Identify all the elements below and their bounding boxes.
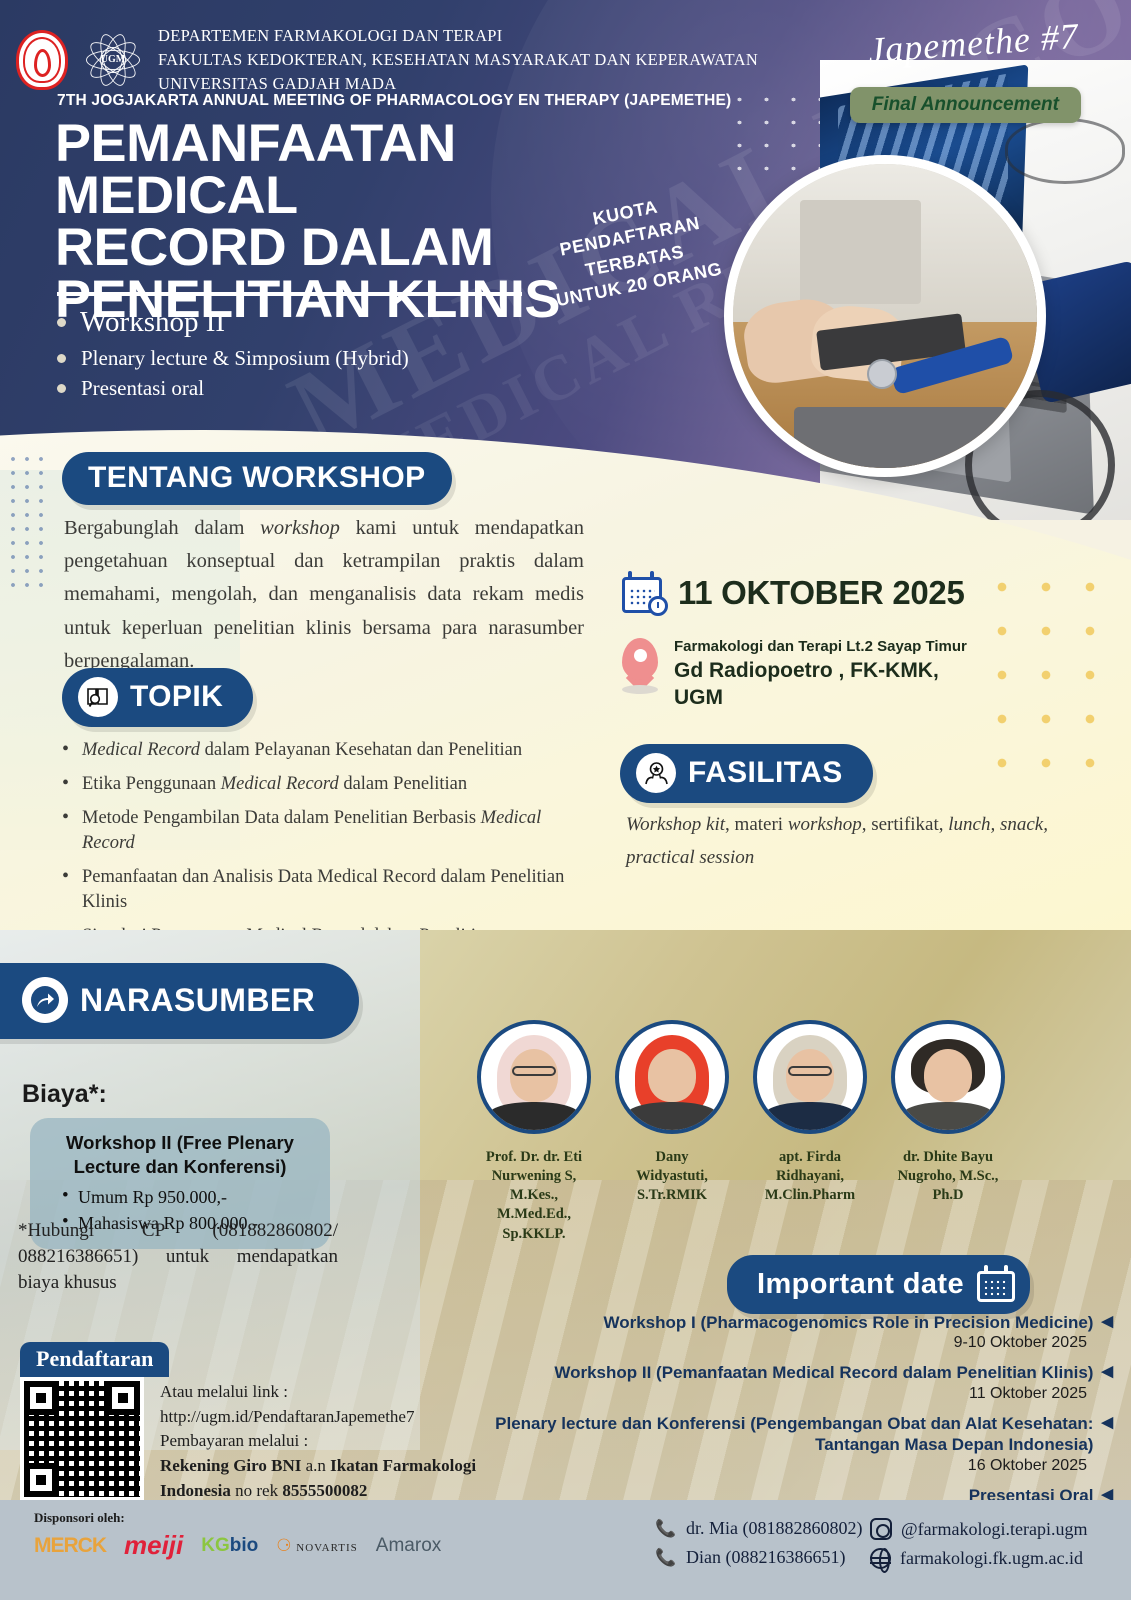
instagram-icon[interactable] bbox=[870, 1518, 892, 1540]
speaker-2-name-0: apt. Firda bbox=[746, 1148, 874, 1167]
calendar-icon bbox=[976, 1264, 1016, 1304]
medal-hands-icon bbox=[636, 753, 676, 793]
about-body-post: kami untuk mendapatkan pengetahuan konse… bbox=[64, 517, 584, 672]
topik-2-pre: Metode Pengambilan Data dalam Penelitian… bbox=[82, 808, 481, 828]
narasumber-heading-label: NARASUMBER bbox=[80, 982, 315, 1019]
avatar bbox=[615, 1020, 729, 1134]
list-item: Pemanfaatan dan Analisis Data Medical Re… bbox=[58, 865, 598, 915]
important-date-heading-pill: Important date bbox=[727, 1255, 1030, 1314]
novartis-label: NOVARTIS bbox=[296, 1542, 358, 1554]
kgbio-logo: KGbio bbox=[201, 1535, 258, 1557]
list-item: Prof. Dr. dr. Eti Nurwening S, M.Kes., M… bbox=[470, 1020, 598, 1244]
list-item: Workshop II (Pemanfaatan Medical Record … bbox=[413, 1362, 1113, 1402]
important-date-1-label: Workshop II (Pemanfaatan Medical Record … bbox=[554, 1362, 1093, 1383]
speaker-2-name-1: Ridhayani, bbox=[746, 1167, 874, 1186]
avatar bbox=[891, 1020, 1005, 1134]
payment-label: Pembayaran melalui : bbox=[160, 1429, 490, 1454]
topik-heading-label: TOPIK bbox=[130, 680, 223, 714]
phone-icon: 📞 bbox=[655, 1548, 677, 1568]
title-divider bbox=[57, 292, 522, 296]
topik-heading-pill: TOPIK bbox=[62, 668, 253, 727]
biaya-heading: Biaya*: bbox=[22, 1080, 107, 1109]
about-body-emphasis: workshop bbox=[260, 517, 340, 539]
share-arrow-icon bbox=[22, 977, 68, 1023]
speaker-3-name-2: Ph.D bbox=[884, 1186, 1012, 1205]
event-subheading: 7TH JOGJAKARTA ANNUAL MEETING OF PHARMAC… bbox=[57, 92, 731, 110]
registration-link-label: Atau melalui link : bbox=[160, 1380, 490, 1405]
bullet-dot-icon bbox=[57, 384, 66, 393]
important-date-2-date: 16 Oktober 2025 bbox=[413, 1457, 1087, 1475]
about-body-pre: Bergabunglah dalam bbox=[64, 517, 260, 539]
topik-0-rest: dalam Pelayanan Kesehatan dan Penelitian bbox=[200, 740, 522, 760]
narasumber-heading-pill: NARASUMBER bbox=[0, 963, 359, 1039]
sponsor-label: Disponsori oleh: bbox=[34, 1510, 125, 1526]
qr-code[interactable] bbox=[20, 1377, 144, 1501]
list-item: 📞Dian (088216386651) bbox=[655, 1547, 862, 1568]
amarox-logo: Amarox bbox=[376, 1535, 441, 1557]
fasilitas-heading-pill: FASILITAS bbox=[620, 744, 873, 803]
bullet-dot-icon bbox=[57, 354, 66, 363]
footer: Disponsori oleh: MERCK meiji KGbio ⚆ NOV… bbox=[0, 1500, 1131, 1600]
speaker-1-name-1: Widyastuti, bbox=[608, 1167, 736, 1186]
list-item: Etika Penggunaan Medical Record dalam Pe… bbox=[58, 772, 598, 797]
hero-bullet-0: Workshop II bbox=[80, 306, 225, 339]
social-0-text[interactable]: @farmakologi.terapi.ugm bbox=[901, 1519, 1088, 1540]
list-item: 📞dr. Mia (081882860802) bbox=[655, 1518, 862, 1539]
novartis-logo: ⚆ NOVARTIS bbox=[276, 1536, 358, 1556]
venue-name-line-1: Gd Radiopoetro , FK-KMK, bbox=[674, 658, 967, 685]
registration-link[interactable]: http://ugm.id/PendaftaranJapemethe7 bbox=[160, 1405, 490, 1430]
registration-tag: Pendaftaran bbox=[20, 1342, 169, 1377]
list-item: dr. Dhite Bayu Nugroho, M.Sc., Ph.D bbox=[884, 1020, 1012, 1244]
title-line-2: RECORD DALAM bbox=[55, 222, 626, 274]
registration-block: Pendaftaran bbox=[20, 1342, 169, 1501]
merck-logo: MERCK bbox=[34, 1534, 106, 1558]
list-item: Umum Rp 950.000,- bbox=[44, 1184, 316, 1210]
topik-3-pre: Pemanfaatan dan Analisis Data Medical Re… bbox=[82, 867, 564, 912]
dot-pattern-right bbox=[980, 565, 1115, 795]
list-item: Workshop II bbox=[57, 306, 409, 339]
speaker-list: Prof. Dr. dr. Eti Nurwening S, M.Kes., M… bbox=[470, 1020, 1015, 1244]
topik-0-em: Medical Record bbox=[82, 740, 200, 760]
about-body-text: Bergabunglah dalam workshop kami untuk m… bbox=[64, 512, 584, 678]
poster-root: MEDICAL RECORD MEDICAL RECORD UGM DEPART… bbox=[0, 0, 1131, 1600]
title-line-1: PEMANFAATAN MEDICAL bbox=[55, 118, 626, 222]
speaker-3-name-1: Nugroho, M.Sc., bbox=[884, 1167, 1012, 1186]
speaker-0-name-1: Nurwening S, M.Kes., bbox=[470, 1167, 598, 1205]
avatar bbox=[477, 1020, 591, 1134]
registration-text: Atau melalui link : http://ugm.id/Pendaf… bbox=[160, 1380, 490, 1503]
list-item: Plenary lecture & Simposium (Hybrid) bbox=[57, 346, 409, 371]
contact-0-text: dr. Mia (081882860802) bbox=[686, 1518, 862, 1539]
ikatan-farmakologi-logo-icon bbox=[16, 30, 68, 90]
social-1-text[interactable]: farmakologi.fk.ugm.ac.id bbox=[900, 1548, 1083, 1569]
venue-name-line-2: UGM bbox=[674, 685, 967, 712]
fasilitas-part-1: , materi bbox=[725, 814, 788, 835]
final-announcement-badge: Final Announcement bbox=[850, 87, 1081, 123]
institution-header: UGM DEPARTEMEN FARMAKOLOGI DAN TERAPI FA… bbox=[16, 24, 758, 96]
hero-bullet-2: Presentasi oral bbox=[81, 376, 204, 401]
speaker-0-name-2: M.Med.Ed., Sp.KKLP. bbox=[470, 1205, 598, 1243]
fasilitas-part-2: workshop bbox=[788, 814, 862, 835]
list-item: farmakologi.fk.ugm.ac.id bbox=[870, 1548, 1088, 1569]
contact-list: 📞dr. Mia (081882860802) 📞Dian (088216386… bbox=[655, 1518, 862, 1576]
arrow-left-icon: ◀ bbox=[1101, 1312, 1113, 1332]
fasilitas-part-0: Workshop kit bbox=[626, 814, 725, 835]
venue-detail: Farmakologi dan Terapi Lt.2 Sayap Timur bbox=[674, 638, 967, 655]
biaya-box-title: Workshop II (Free Plenary Lecture dan Ko… bbox=[44, 1131, 316, 1178]
topik-1-rest: dalam Penelitian bbox=[339, 774, 467, 794]
meiji-logo: meiji bbox=[124, 1530, 183, 1561]
ugm-logo-icon: UGM bbox=[82, 29, 144, 91]
about-heading-pill: TENTANG WORKSHOP bbox=[62, 452, 452, 505]
bank-mid: a.n bbox=[301, 1456, 330, 1475]
book-search-icon bbox=[78, 677, 118, 717]
phone-icon: 📞 bbox=[655, 1519, 677, 1539]
list-item: Presentasi oral bbox=[57, 376, 409, 401]
speaker-1-name-0: Dany bbox=[608, 1148, 736, 1167]
org-line-2: FAKULTAS KEDOKTERAN, KESEHATAN MASYARAKA… bbox=[158, 48, 758, 72]
location-pin-icon bbox=[618, 638, 662, 694]
arrow-left-icon: ◀ bbox=[1101, 1413, 1113, 1433]
bank-name: Rekening Giro BNI bbox=[160, 1456, 301, 1475]
dot-pattern-left bbox=[6, 452, 52, 592]
list-item: Medical Record dalam Pelayanan Kesehatan… bbox=[58, 738, 598, 763]
event-date: 11 OKTOBER 2025 bbox=[678, 574, 965, 612]
calendar-clock-icon bbox=[620, 570, 668, 616]
event-date-row: 11 OKTOBER 2025 bbox=[620, 570, 965, 616]
list-item: Dany Widyastuti, S.Tr.RMIK bbox=[608, 1020, 736, 1244]
org-line-1: DEPARTEMEN FARMAKOLOGI DAN TERAPI bbox=[158, 24, 758, 48]
important-date-1-date: 11 Oktober 2025 bbox=[413, 1385, 1087, 1403]
list-item: @farmakologi.terapi.ugm bbox=[870, 1518, 1088, 1540]
topik-list: Medical Record dalam Pelayanan Kesehatan… bbox=[58, 738, 598, 958]
event-location-row: Farmakologi dan Terapi Lt.2 Sayap Timur … bbox=[618, 638, 967, 712]
hero-bullet-1: Plenary lecture & Simposium (Hybrid) bbox=[81, 346, 409, 371]
speaker-0-name-0: Prof. Dr. dr. Eti bbox=[470, 1148, 598, 1167]
important-date-0-label: Workshop I (Pharmacogenomics Role in Pre… bbox=[603, 1312, 1093, 1333]
avatar bbox=[753, 1020, 867, 1134]
arrow-left-icon: ◀ bbox=[1101, 1362, 1113, 1382]
bank-account-number: 8555500082 bbox=[282, 1481, 367, 1500]
speaker-3-name-0: dr. Dhite Bayu bbox=[884, 1148, 1012, 1167]
sponsor-logos: MERCK meiji KGbio ⚆ NOVARTIS Amarox bbox=[34, 1530, 441, 1561]
speaker-2-name-2: M.Clin.Pharm bbox=[746, 1186, 874, 1205]
bullet-dot-icon bbox=[57, 318, 66, 327]
social-list: @farmakologi.terapi.ugm farmakologi.fk.u… bbox=[870, 1518, 1088, 1577]
topik-1-pre: Etika Penggunaan bbox=[82, 774, 221, 794]
globe-icon[interactable] bbox=[870, 1548, 891, 1569]
bank-rek-label: no rek bbox=[231, 1481, 282, 1500]
topik-1-em: Medical Record bbox=[221, 774, 339, 794]
hero-photo-circle bbox=[724, 155, 1046, 477]
about-heading-label: TENTANG WORKSHOP bbox=[88, 461, 426, 495]
speaker-1-name-2: S.Tr.RMIK bbox=[608, 1186, 736, 1205]
fasilitas-heading-label: FASILITAS bbox=[688, 756, 843, 790]
important-date-2-label: Plenary lecture dan Konferensi (Pengemba… bbox=[413, 1413, 1093, 1456]
biaya-note: *Hubungi CP (081882860802/ 088216386651)… bbox=[18, 1218, 338, 1297]
hero-bullet-list: Workshop II Plenary lecture & Simposium … bbox=[57, 306, 409, 406]
ugm-seal-label: UGM bbox=[100, 47, 126, 73]
fasilitas-part-3: , sertifikat, bbox=[862, 814, 949, 835]
important-date-heading-label: Important date bbox=[757, 1268, 964, 1301]
important-date-0-date: 9-10 Oktober 2025 bbox=[413, 1334, 1087, 1352]
list-item: Metode Pengambilan Data dalam Penelitian… bbox=[58, 806, 598, 856]
contact-1-text: Dian (088216386651) bbox=[686, 1547, 845, 1568]
list-item: Workshop I (Pharmacogenomics Role in Pre… bbox=[413, 1312, 1113, 1352]
list-item: apt. Firda Ridhayani, M.Clin.Pharm bbox=[746, 1020, 874, 1244]
fasilitas-text: Workshop kit, materi workshop, sertifika… bbox=[626, 808, 1056, 875]
list-item: Plenary lecture dan Konferensi (Pengemba… bbox=[413, 1413, 1113, 1475]
